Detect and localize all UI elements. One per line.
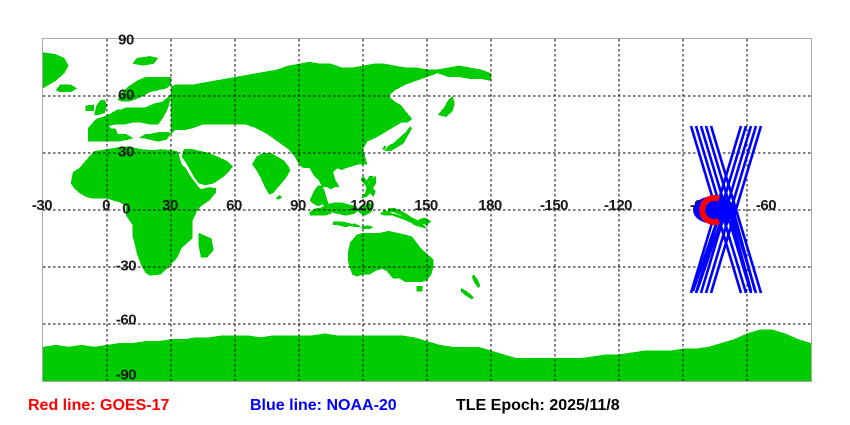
- lat-tick-30: 30: [118, 144, 134, 161]
- lat-tick-90: 90: [118, 32, 134, 49]
- lon-tick-7: 180: [478, 197, 502, 214]
- lat-tick-n60: -60: [116, 312, 136, 329]
- lon-tick-0: -30: [32, 197, 52, 214]
- satellite-tracking-map: -30 0 30 60 90 120 150 180 -150 -120 -90…: [0, 0, 850, 425]
- legend-tle-epoch: TLE Epoch: 2025/11/8: [456, 396, 620, 416]
- lon-tick-9: -120: [604, 197, 632, 214]
- lon-tick-8: -150: [540, 197, 568, 214]
- lon-tick-2: 30: [162, 197, 178, 214]
- lon-tick-3: 60: [226, 197, 242, 214]
- map-legend: Red line: GOES-17 Blue line: NOAA-20 TLE…: [0, 396, 850, 420]
- lon-tick-4: 90: [290, 197, 306, 214]
- lon-tick-11: -60: [756, 197, 776, 214]
- legend-goes-17: Red line: GOES-17: [28, 396, 169, 416]
- lat-tick-n30: -30: [116, 258, 136, 275]
- lat-tick-n90: -90: [116, 367, 136, 384]
- lon-tick-1: 0: [102, 197, 110, 214]
- lon-tick-6: 150: [414, 197, 438, 214]
- lat-tick-0: 0: [122, 201, 130, 218]
- lon-tick-5: 120: [350, 197, 374, 214]
- legend-noaa-20: Blue line: NOAA-20: [250, 396, 397, 416]
- lat-tick-60: 60: [118, 87, 134, 104]
